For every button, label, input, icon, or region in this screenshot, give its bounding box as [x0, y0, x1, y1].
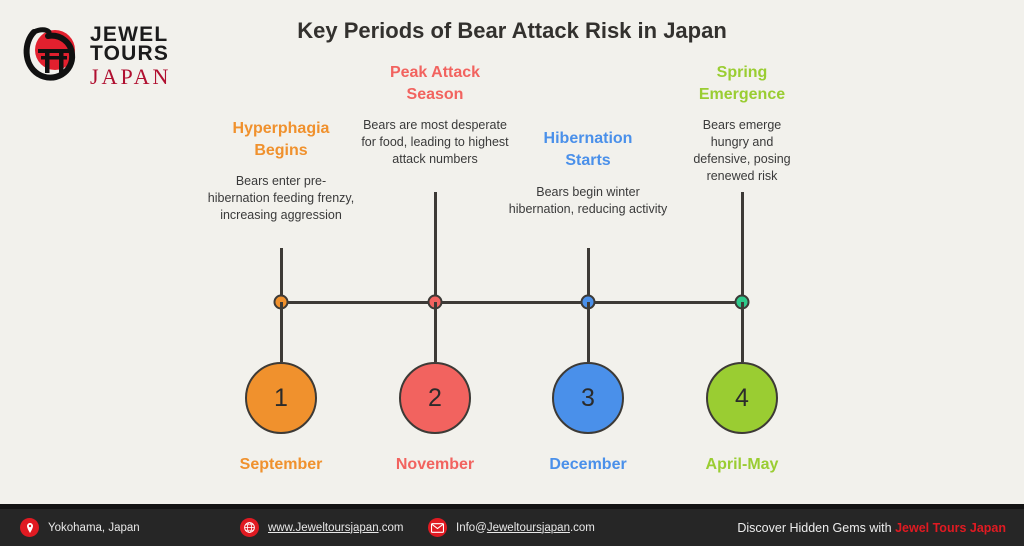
envelope-icon [428, 518, 447, 537]
milestone-description-3: Bears begin winter hibernation, reducing… [508, 184, 668, 218]
footer-website-prefix: www. [268, 522, 295, 534]
milestone-description-2: Bears are most desperate for food, leadi… [360, 117, 510, 168]
milestone-month-1: September [240, 456, 323, 474]
timeline-axis [281, 301, 742, 304]
milestone-heading-4: Spring Emergence [662, 62, 822, 106]
milestone-heading-4-line2: Emergence [699, 86, 785, 103]
footer-email-text[interactable]: Info@Jeweltoursjapan.com [456, 522, 595, 534]
milestone-stem-lower-4 [741, 302, 744, 362]
milestone-number-1[interactable]: 1 [245, 362, 317, 434]
milestone-heading-2-line2: Season [407, 86, 464, 103]
milestone-heading-3-line1: Hibernation [544, 130, 633, 147]
footer-tagline-brand: Jewel Tours Japan [895, 521, 1006, 535]
location-pin-icon [20, 518, 39, 537]
footer-tagline-prefix: Discover Hidden Gems with [737, 521, 895, 535]
milestone-stem-lower-3 [587, 302, 590, 362]
logo-line-tours: TOURS [90, 44, 198, 63]
milestone-month-3: December [549, 456, 626, 474]
footer-website-domain: Jeweltoursjapan [295, 522, 378, 534]
footer-email-prefix: Info@ [456, 522, 487, 534]
milestone-stem-4 [741, 192, 744, 302]
footer-website[interactable]: www.Jeweltoursjapan.com [240, 518, 404, 537]
milestone-heading-1-line2: Begins [254, 142, 307, 159]
milestone-heading-4-line1: Spring [717, 64, 768, 81]
footer-bar: Yokohama, Japan www.Jeweltoursjapan.com … [0, 509, 1024, 546]
milestone-description-1: Bears enter pre-hibernation feeding fren… [206, 173, 356, 224]
milestone-description-4: Bears emerge hungry and defensive, posin… [682, 117, 802, 185]
milestone-month-4: April-May [706, 456, 779, 474]
milestone-heading-1-line1: Hyperphagia [233, 120, 330, 137]
footer-email-domain: Jeweltoursjapan [487, 522, 570, 534]
milestone-number-2[interactable]: 2 [399, 362, 471, 434]
milestone-heading-2-line1: Peak Attack [390, 64, 480, 81]
footer-email-suffix: .com [570, 522, 595, 534]
milestone-stem-2 [434, 192, 437, 302]
milestone-heading-1: Hyperphagia Begins [201, 118, 361, 162]
milestone-heading-3: Hibernation Starts [508, 128, 668, 172]
footer-website-text[interactable]: www.Jeweltoursjapan.com [268, 522, 404, 534]
milestone-heading-3-line2: Starts [565, 152, 610, 169]
milestone-stem-lower-2 [434, 302, 437, 362]
milestone-number-3[interactable]: 3 [552, 362, 624, 434]
footer-tagline: Discover Hidden Gems with Jewel Tours Ja… [737, 521, 1006, 535]
logo-line-japan: JAPAN [90, 63, 198, 89]
globe-icon [240, 518, 259, 537]
milestone-heading-2: Peak Attack Season [355, 62, 515, 106]
milestone-number-4[interactable]: 4 [706, 362, 778, 434]
footer-website-suffix: .com [379, 522, 404, 534]
milestone-stem-lower-1 [280, 302, 283, 362]
milestone-month-2: November [396, 456, 474, 474]
footer-location: Yokohama, Japan [20, 518, 140, 537]
page-title: Key Periods of Bear Attack Risk in Japan [0, 18, 1024, 44]
footer-email[interactable]: Info@Jeweltoursjapan.com [428, 518, 595, 537]
infographic-canvas: JEWEL TOURS JAPAN Key Periods of Bear At… [0, 0, 1024, 506]
footer-location-text: Yokohama, Japan [48, 522, 140, 534]
